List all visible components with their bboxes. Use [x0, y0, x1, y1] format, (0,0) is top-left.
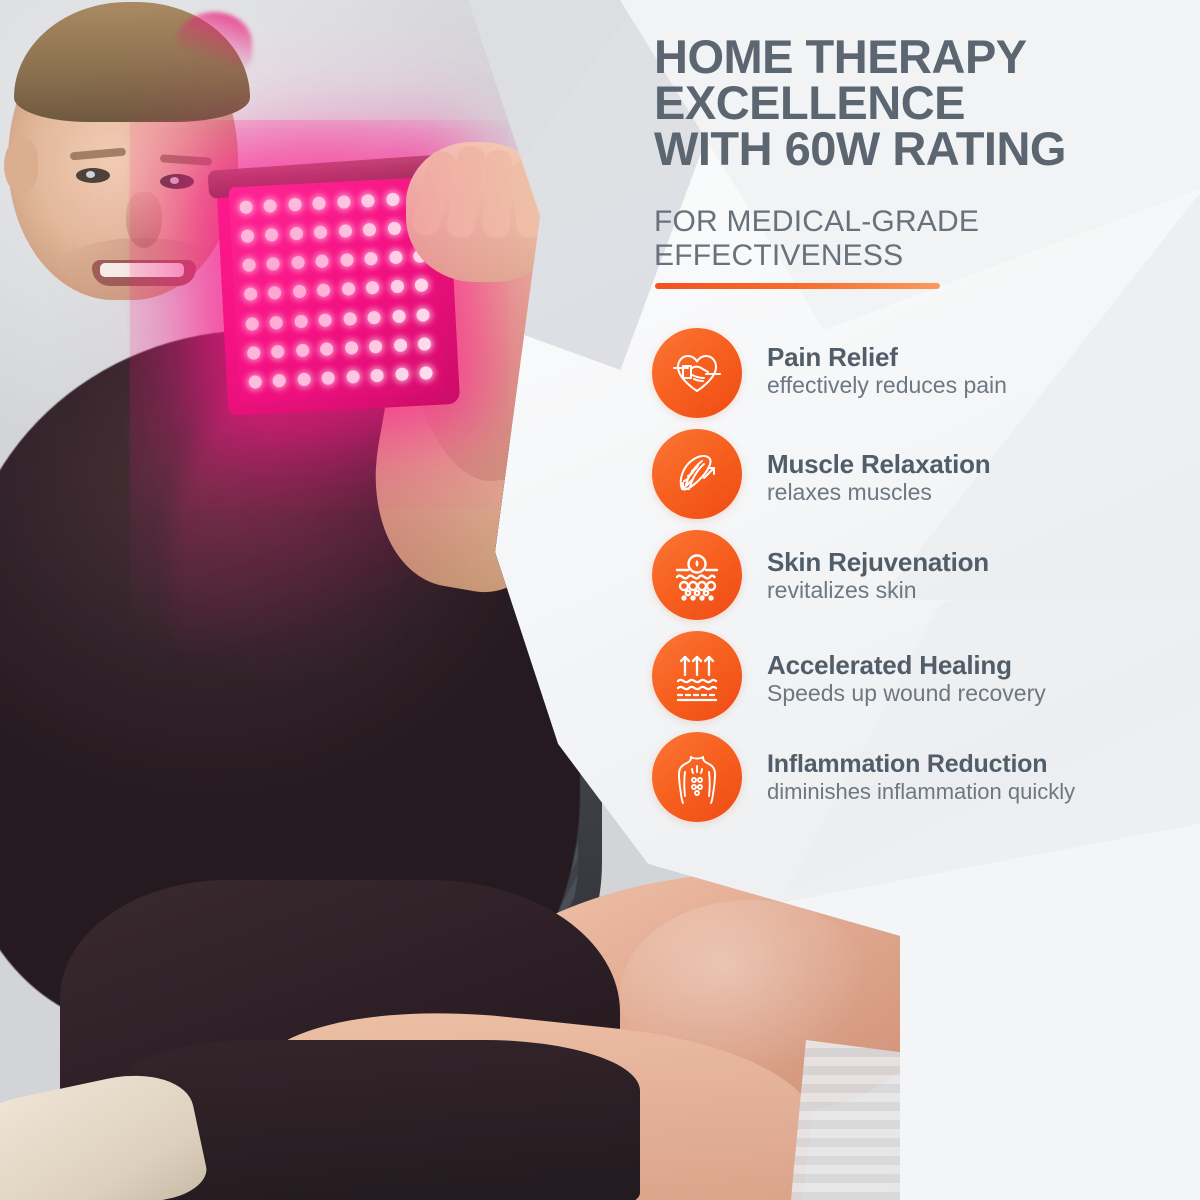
feature-text: Pain Relief effectively reduces pain [767, 341, 1007, 399]
feature-title: Accelerated Healing [767, 651, 1046, 679]
feature-list: Pain Relief effectively reduces pain [652, 322, 1200, 827]
feature-text: Accelerated Healing Speeds up wound reco… [767, 649, 1046, 707]
orange-accent-underline [655, 283, 940, 289]
feature-subtitle: revitalizes skin [767, 577, 989, 604]
feature-title: Pain Relief [767, 343, 1007, 371]
feature-item-accelerated-healing: Accelerated Healing Speeds up wound reco… [652, 625, 1200, 726]
feature-badge [652, 429, 742, 519]
feature-subtitle: effectively reduces pain [767, 372, 1007, 399]
headline-line-2: EXCELLENCE [654, 80, 1184, 126]
model-nose [126, 192, 162, 248]
skin-layers-cells-icon [670, 548, 724, 602]
model-ear [4, 138, 38, 194]
page-subheadline: FOR MEDICAL-GRADE EFFECTIVENESS [654, 205, 1074, 272]
feature-title: Muscle Relaxation [767, 450, 990, 478]
feature-item-skin-rejuvenation: Skin Rejuvenation revitalizes skin [652, 524, 1200, 625]
model-eyebrow-right [160, 154, 212, 166]
headline-line-1: HOME THERAPY [654, 34, 1184, 80]
model-mouth [92, 260, 196, 286]
infographic-canvas: HOME THERAPY EXCELLENCE WITH 60W RATING … [0, 0, 1200, 1200]
muscle-fiber-stretch-icon [670, 447, 724, 501]
subheadline-line-1: FOR MEDICAL-GRADE [654, 205, 1074, 239]
model-finger [482, 150, 512, 239]
feature-text: Muscle Relaxation relaxes muscles [767, 448, 990, 506]
feature-title: Inflammation Reduction [767, 751, 1075, 778]
feature-subtitle: Speeds up wound recovery [767, 680, 1046, 707]
up-arrows-skin-layers-icon [670, 649, 724, 703]
model-eyebrow-left [70, 148, 126, 161]
model-eye-right [160, 174, 194, 189]
model-eye-left [76, 168, 110, 183]
page-headline: HOME THERAPY EXCELLENCE WITH 60W RATING [654, 34, 1184, 172]
feature-text: Skin Rejuvenation revitalizes skin [767, 546, 989, 604]
feature-badge [652, 530, 742, 620]
hair-pink-glow [176, 12, 252, 74]
feature-badge [652, 328, 742, 418]
feature-item-pain-relief: Pain Relief effectively reduces pain [652, 322, 1200, 423]
feature-badge [652, 631, 742, 721]
heart-handshake-icon [670, 346, 724, 400]
feature-badge [652, 732, 742, 822]
feature-subtitle: diminishes inflammation quickly [767, 779, 1075, 805]
subheadline-line-2: EFFECTIVENESS [654, 239, 1074, 273]
feature-item-muscle-relaxation: Muscle Relaxation relaxes muscles [652, 423, 1200, 524]
feature-title: Skin Rejuvenation [767, 548, 989, 576]
feature-item-inflammation-reduction: Inflammation Reduction diminishes inflam… [652, 726, 1200, 827]
headline-line-3: WITH 60W RATING [654, 126, 1184, 172]
feature-text: Inflammation Reduction diminishes inflam… [767, 749, 1075, 805]
content-column: HOME THERAPY EXCELLENCE WITH 60W RATING … [640, 0, 1200, 1200]
model-head [8, 10, 238, 300]
feature-subtitle: relaxes muscles [767, 479, 990, 506]
torso-inflammation-icon [670, 750, 724, 804]
